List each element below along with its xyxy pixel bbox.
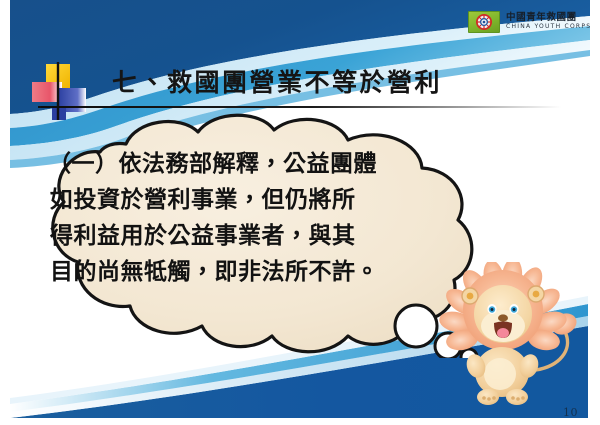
- cloud-line-4: 目的尚無牴觸，即非法所不許。: [48, 254, 468, 290]
- cloud-line-2: 如投資於營利事業，但仍將所: [48, 182, 468, 218]
- logo-name-en: CHINA YOUTH CORPS: [506, 24, 591, 30]
- page-title: 七、救國團營業不等於營利: [112, 69, 512, 98]
- china-youth-corps-emblem-icon: [468, 11, 500, 33]
- cloud-line-3: 得利益用於公益事業者，與其: [48, 218, 468, 254]
- logo-text: 中國青年救國團 CHINA YOUTH CORPS: [506, 13, 591, 30]
- slide: 中國青年救國團 CHINA YOUTH CORPS: [0, 0, 600, 425]
- cloud-line-1: （一）依法務部解釋，公益團體: [48, 146, 468, 182]
- lion-mascot-icon: [432, 262, 582, 412]
- logo-name-cn: 中國青年救國團: [506, 13, 591, 23]
- corps-logo: 中國青年救國團 CHINA YOUTH CORPS: [468, 11, 591, 33]
- page-number: 10: [563, 406, 578, 419]
- cloud-body-text: （一）依法務部解釋，公益團體 如投資於營利事業，但仍將所 得利益用於公益事業者，…: [48, 146, 468, 290]
